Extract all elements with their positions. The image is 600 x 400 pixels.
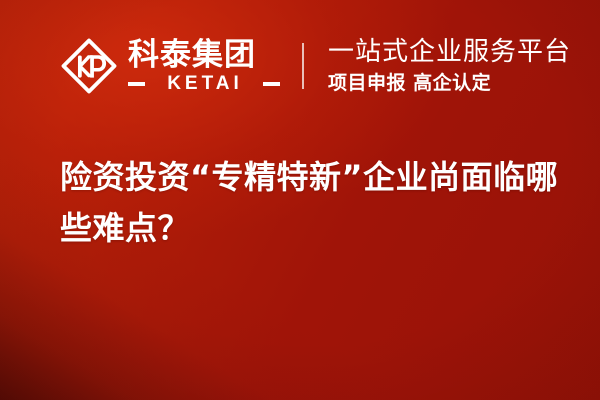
logo-wordmark: 科泰集团 KETAI <box>128 39 280 93</box>
banner-content: 科泰集团 KETAI 一站式企业服务平台 项目申报 高企认定 险资投资“专精特新… <box>0 0 600 400</box>
banner-header: 科泰集团 KETAI 一站式企业服务平台 项目申报 高企认定 <box>60 30 571 102</box>
tagline-secondary: 项目申报 高企认定 <box>328 72 571 95</box>
logo-latin-row: KETAI <box>128 74 280 93</box>
promotional-banner: 科泰集团 KETAI 一站式企业服务平台 项目申报 高企认定 险资投资“专精特新… <box>0 0 600 400</box>
logo-rule-right-icon <box>263 82 280 86</box>
tagline-primary: 一站式企业服务平台 <box>328 38 571 67</box>
ketai-diamond-monogram-icon <box>60 37 118 95</box>
logo-company-name-cn: 科泰集团 <box>128 39 280 71</box>
header-taglines: 一站式企业服务平台 项目申报 高企认定 <box>328 38 571 95</box>
brand-logo[interactable]: 科泰集团 KETAI <box>60 30 280 102</box>
logo-rule-left-icon <box>128 82 145 86</box>
header-divider <box>302 43 304 89</box>
logo-company-name-en: KETAI <box>161 74 247 93</box>
page-title: 险资投资“专精特新”企业尚面临哪些难点？ <box>60 152 560 253</box>
